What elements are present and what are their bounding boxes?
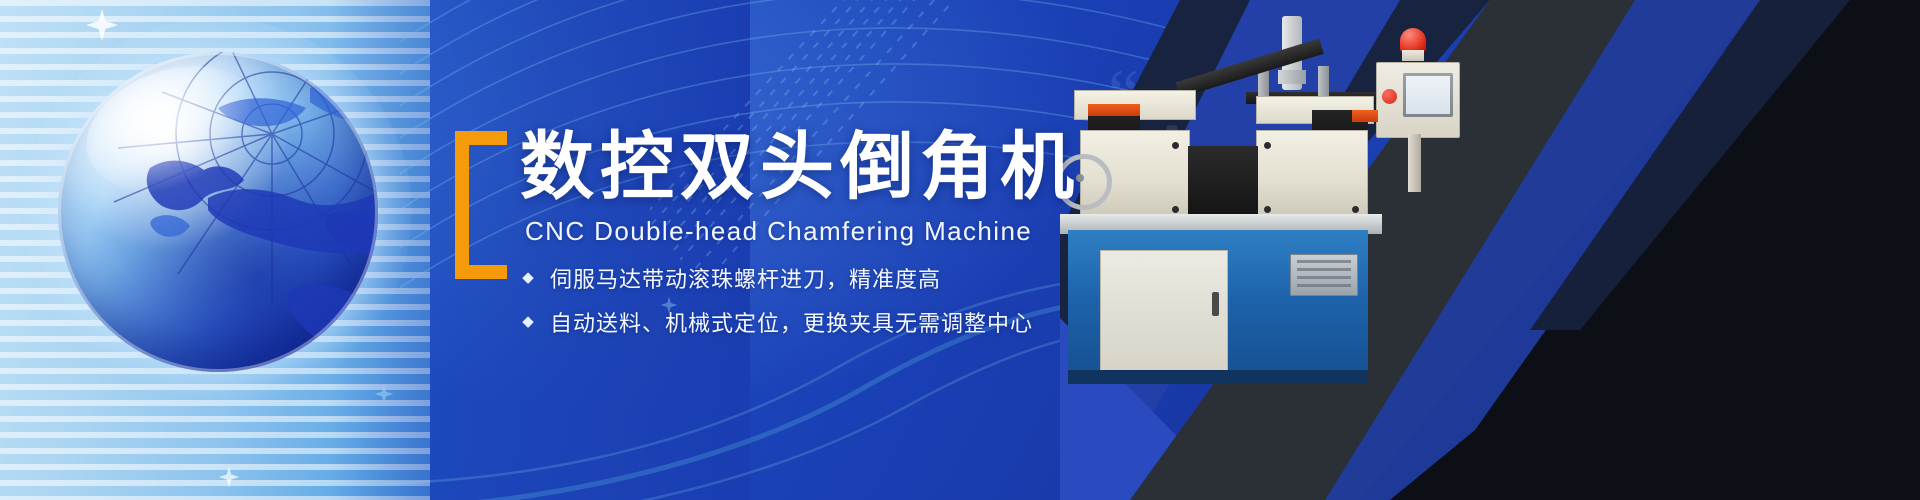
diamond-bullet-icon: ◆ (520, 270, 536, 286)
panel-support-pole (1408, 134, 1421, 192)
list-item: ◆ 自动送料、机械式定位，更换夹具无需调整中心 (520, 306, 1033, 338)
feature-text: 伺服马达带动滚珠螺杆进刀，精准度高 (550, 262, 941, 294)
bracket-bottom-arm (455, 265, 507, 279)
globe-sphere (58, 52, 378, 372)
cylinder-cap (1278, 70, 1306, 84)
hmi-screen (1403, 73, 1453, 117)
bolt-icon (1264, 206, 1271, 213)
list-item: ◆ 伺服马达带动滚珠螺杆进刀，精准度高 (520, 262, 1033, 294)
orange-guard-right (1352, 110, 1378, 122)
hmi-control-panel (1376, 62, 1460, 138)
feature-list: ◆ 伺服马达带动滚珠螺杆进刀，精准度高 ◆ 自动送料、机械式定位，更换夹具无需调… (520, 262, 1033, 350)
beacon-base (1402, 50, 1424, 61)
diamond-bullet-icon: ◆ (520, 314, 536, 330)
warning-beacon-icon (1400, 28, 1426, 62)
machine-nameplate (1290, 254, 1358, 296)
bolt-icon (1264, 142, 1271, 149)
globe-rim (58, 52, 378, 372)
orange-bracket-decoration (455, 131, 507, 279)
product-banner: “ A Asadal has since (0, 0, 1920, 500)
globe-illustration (58, 52, 378, 372)
feature-text: 自动送料、机械式定位，更换夹具无需调整中心 (550, 306, 1033, 338)
headline-text-block: 数控双头倒角机 CNC Double-head Chamfering Machi… (520, 0, 1220, 500)
bracket-vertical-arm (455, 131, 469, 279)
page-subtitle: CNC Double-head Chamfering Machine (525, 216, 1032, 247)
bolt-icon (1352, 206, 1359, 213)
emergency-stop-button-icon (1382, 89, 1397, 104)
page-title: 数控双头倒角机 (520, 130, 1080, 204)
beacon-dome (1400, 28, 1426, 52)
motor-cover-right (1256, 130, 1368, 218)
